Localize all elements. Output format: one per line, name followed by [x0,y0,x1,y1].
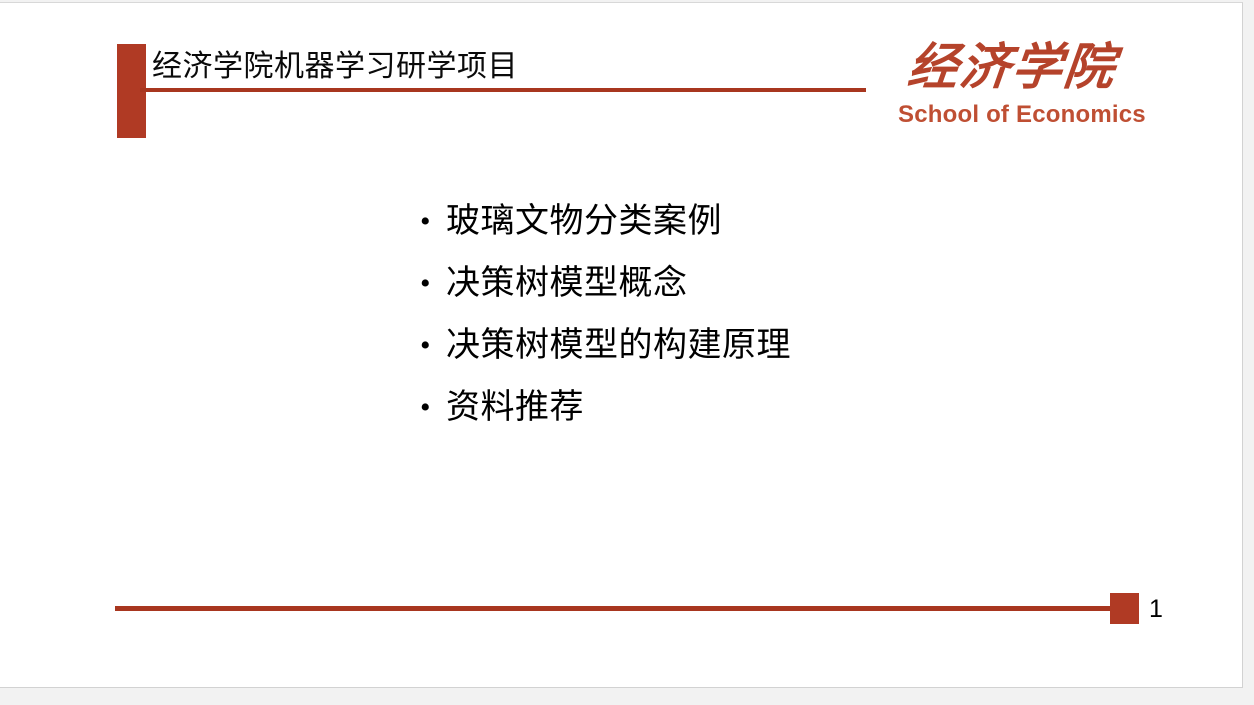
list-item-label: 玻璃文物分类案例 [446,199,722,245]
bullet-icon: • [420,261,446,307]
slide: 经济学院机器学习研学项目 经济学院 School of Economics • … [0,2,1243,688]
list-item: • 决策树模型的构建原理 [420,323,940,385]
logo-chinese-text: 经济学院 [905,35,1120,99]
page-title: 经济学院机器学习研学项目 [152,48,518,86]
page-number: 1 [1149,594,1163,624]
footer-accent-block [1110,593,1139,624]
logo-english-text: School of Economics [898,101,1146,129]
header-divider [140,88,866,92]
list-item-label: 决策树模型概念 [446,261,688,307]
agenda-list: • 玻璃文物分类案例 • 决策树模型概念 • 决策树模型的构建原理 • 资料推荐 [420,199,940,447]
bullet-icon: • [420,199,446,245]
presentation-canvas: 经济学院机器学习研学项目 经济学院 School of Economics • … [0,0,1254,705]
list-item-label: 资料推荐 [446,385,584,431]
list-item: • 资料推荐 [420,385,940,447]
list-item: • 玻璃文物分类案例 [420,199,940,261]
school-logo: 经济学院 School of Economics [890,35,1140,131]
bullet-icon: • [420,385,446,431]
footer-divider [115,606,1115,611]
bullet-icon: • [420,323,446,369]
list-item-label: 决策树模型的构建原理 [446,323,791,369]
list-item: • 决策树模型概念 [420,261,940,323]
